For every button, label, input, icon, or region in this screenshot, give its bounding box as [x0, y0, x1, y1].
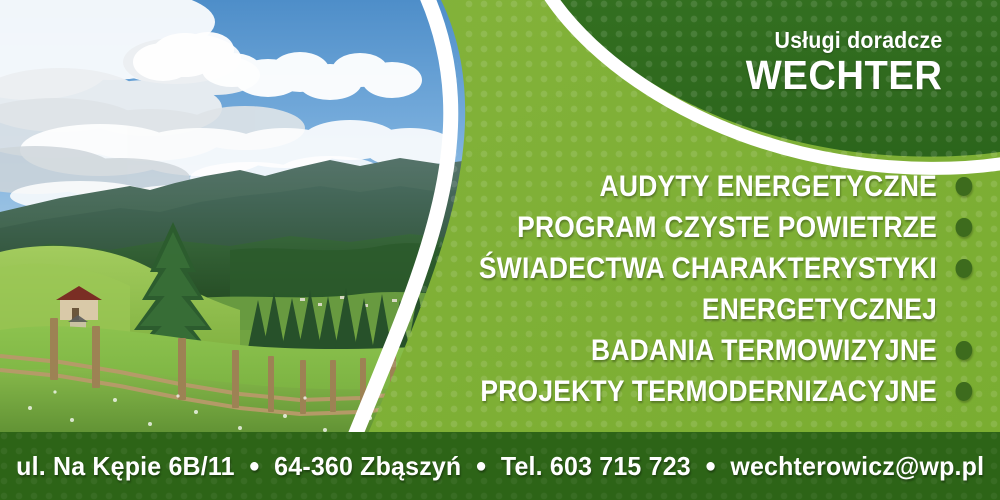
service-label: ŚWIADECTWA CHARAKTERYSTYKI: [479, 252, 937, 285]
service-label: PROGRAM CZYSTE POWIETRZE: [517, 211, 937, 244]
bullet-dot-icon: [956, 218, 973, 237]
company-logo: Usługi doradcze WECHTER: [731, 28, 942, 98]
advertising-banner: Usługi doradcze WECHTER AUDYTY ENERGETYC…: [0, 0, 1000, 500]
service-label: BADANIA TERMOWIZYJNE: [591, 334, 937, 367]
bullet-dot-icon: [956, 341, 973, 360]
service-item-5: PROJEKTY TERMODERNIZACYJNE: [358, 371, 974, 412]
service-item-2: PROGRAM CZYSTE POWIETRZE: [358, 207, 974, 248]
contact-city: 64-360 Zbąszyń: [274, 451, 461, 481]
service-item-1: AUDYTY ENERGETYCZNE: [358, 166, 974, 207]
bullet-dot-icon: [956, 177, 973, 196]
service-label: AUDYTY ENERGETYCZNE: [600, 170, 938, 203]
separator-dot-icon: ●: [242, 455, 267, 478]
contact-phone[interactable]: Tel. 603 715 723: [501, 451, 691, 481]
contact-footer: ul. Na Kępie 6B/11 ● 64-360 Zbąszyń ● Te…: [0, 432, 1000, 500]
logo-company-name: WECHTER: [745, 54, 942, 97]
bullet-dot-icon: [956, 259, 973, 278]
bullet-dot-icon: [956, 382, 973, 401]
separator-dot-icon: ●: [468, 455, 493, 478]
service-label: ENERGETYCZNEJ: [702, 293, 937, 326]
contact-email[interactable]: wechterowicz@wp.pl: [730, 451, 984, 481]
service-item-3: ŚWIADECTWA CHARAKTERYSTYKI: [358, 248, 974, 289]
service-item-3-continuation: ENERGETYCZNEJ: [358, 289, 974, 330]
contact-street: ul. Na Kępie 6B/11: [16, 451, 234, 481]
services-list: AUDYTY ENERGETYCZNE PROGRAM CZYSTE POWIE…: [274, 166, 974, 412]
service-label: PROJEKTY TERMODERNIZACYJNE: [480, 375, 937, 408]
contact-line: ul. Na Kępie 6B/11 ● 64-360 Zbąszyń ● Te…: [16, 451, 984, 482]
service-item-4: BADANIA TERMOWIZYJNE: [358, 330, 974, 371]
logo-tagline: Usługi doradcze: [745, 28, 942, 52]
separator-dot-icon: ●: [698, 455, 723, 478]
